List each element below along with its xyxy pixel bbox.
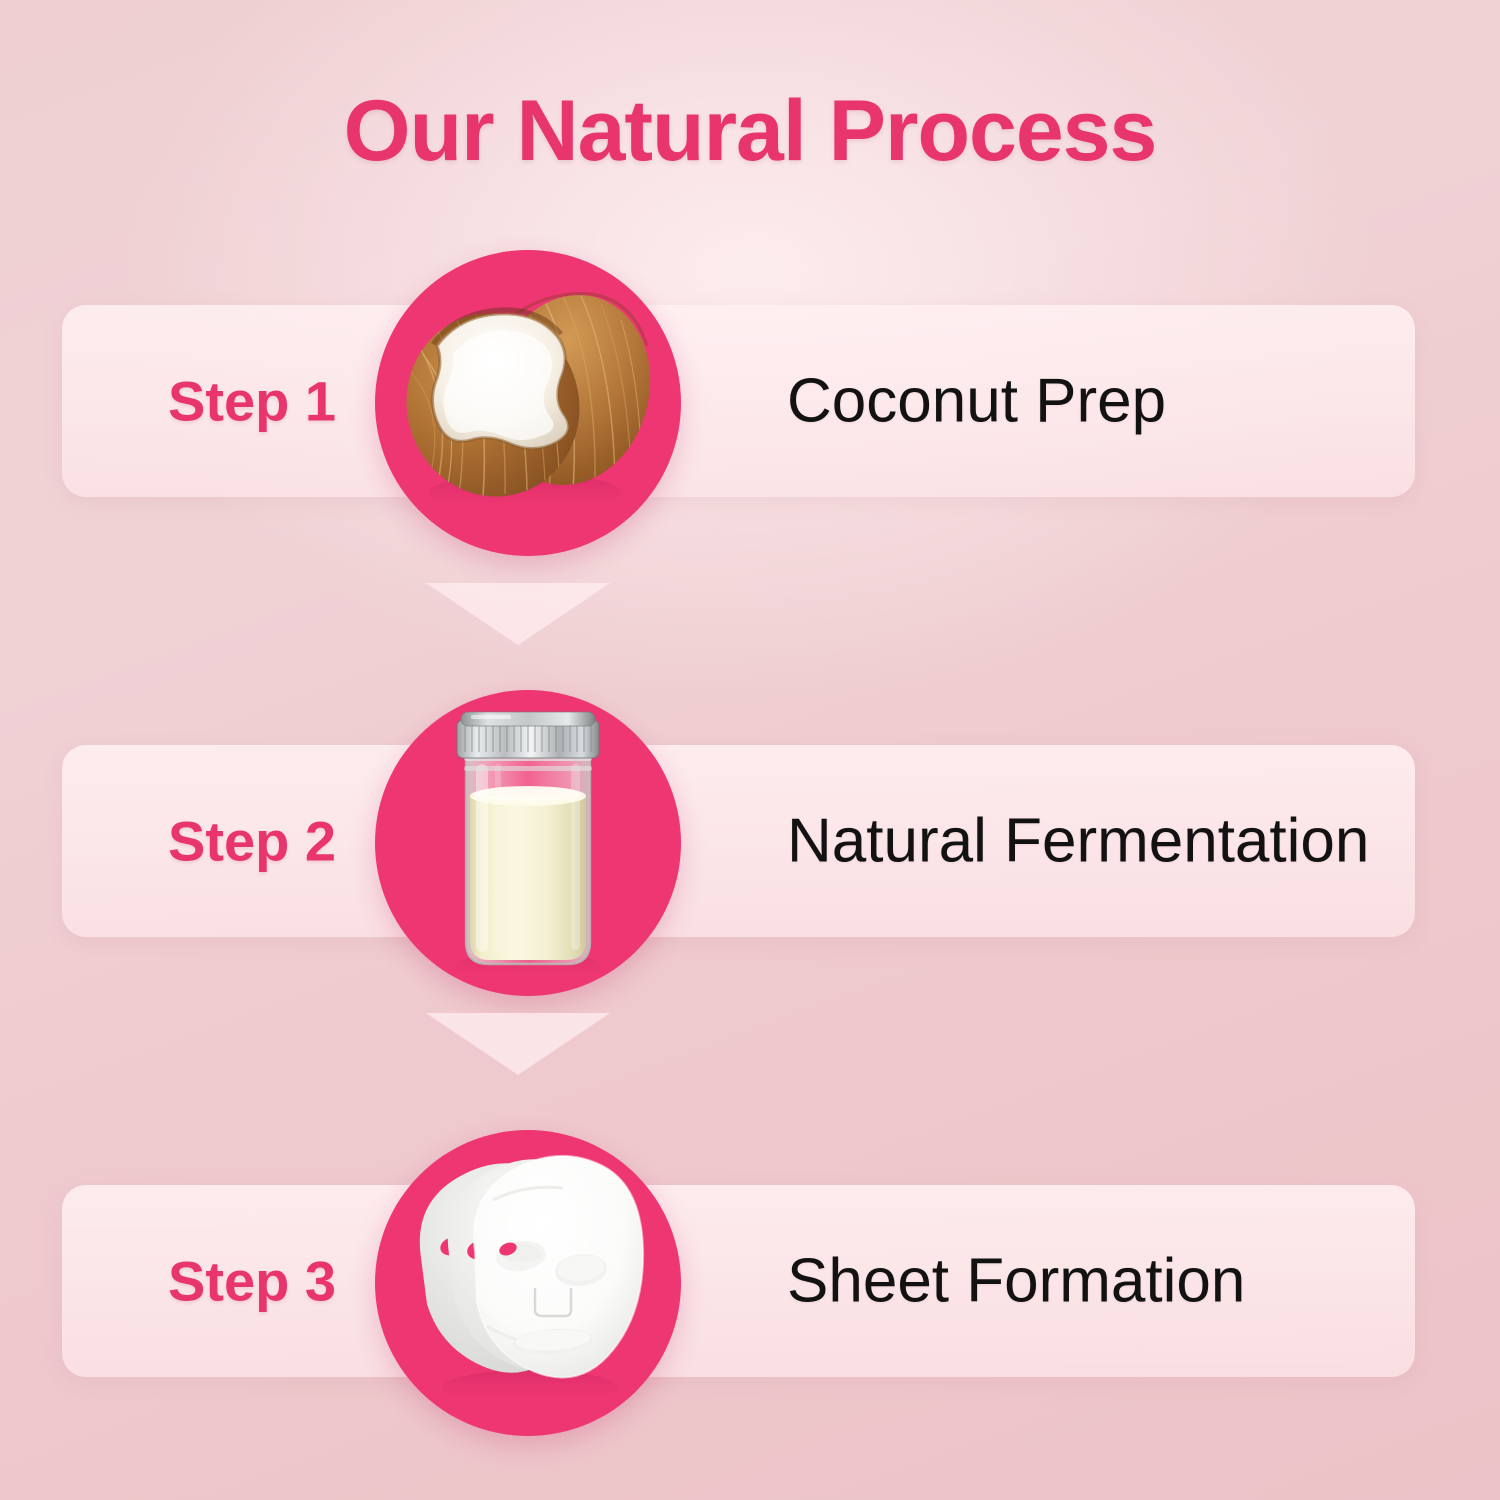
step-card-1: Step 1 Coconut Prep	[62, 305, 1415, 497]
fermentation-jar-icon	[375, 690, 681, 996]
step-medallion-3	[375, 1130, 681, 1436]
step-card-2: Step 2 Natural Fermentation	[62, 745, 1415, 937]
sheet-mask-icon	[375, 1130, 681, 1436]
step-card-3: Step 3 Sheet Formation	[62, 1185, 1415, 1377]
step-label-3: Step 3	[117, 1249, 387, 1314]
step-title-1: Coconut Prep	[787, 366, 1166, 437]
page-title: Our Natural Process	[0, 82, 1500, 181]
step-title-3: Sheet Formation	[787, 1246, 1245, 1317]
process-infographic: Our Natural Process Step 1 Coconut Prep	[0, 0, 1500, 1500]
arrow-down-1-icon	[426, 583, 610, 645]
coconut-icon	[375, 250, 681, 556]
step-title-2: Natural Fermentation	[787, 806, 1369, 877]
step-medallion-2	[375, 690, 681, 996]
step-label-2: Step 2	[117, 809, 387, 874]
step-label-1: Step 1	[117, 369, 387, 434]
arrow-down-2-icon	[426, 1013, 610, 1075]
step-medallion-1	[375, 250, 681, 556]
